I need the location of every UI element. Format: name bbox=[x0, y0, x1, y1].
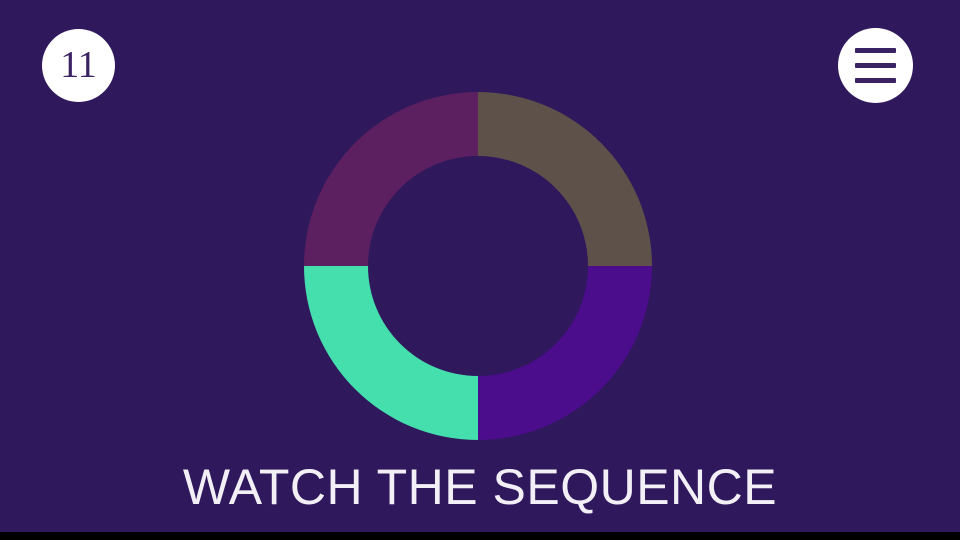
segment-top-left[interactable] bbox=[304, 92, 478, 266]
segment-bottom-right[interactable] bbox=[478, 266, 652, 440]
level-badge: 11 bbox=[42, 29, 115, 102]
system-bottom-bar bbox=[0, 532, 960, 540]
menu-button[interactable] bbox=[838, 28, 913, 103]
donut-svg bbox=[304, 92, 652, 440]
game-screen: 11 WATCH THE SEQUENCE bbox=[0, 0, 960, 532]
menu-bar-middle bbox=[855, 63, 896, 68]
level-badge-value: 11 bbox=[60, 46, 97, 84]
instruction-caption: WATCH THE SEQUENCE bbox=[0, 458, 960, 516]
menu-bar-top bbox=[855, 48, 896, 53]
segment-top-right[interactable] bbox=[478, 92, 652, 266]
menu-bar-bottom bbox=[855, 78, 896, 83]
sequence-donut-chart bbox=[304, 92, 652, 440]
hamburger-menu-icon bbox=[855, 48, 896, 83]
segment-bottom-left[interactable] bbox=[304, 266, 478, 440]
